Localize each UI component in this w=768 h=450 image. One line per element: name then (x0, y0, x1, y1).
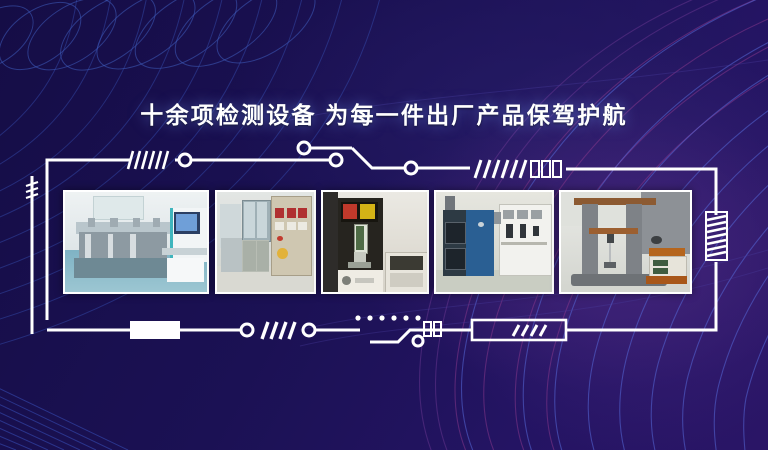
banner-stage: 十余项检测设备 为每一件出厂产品保驾护航 (0, 0, 768, 450)
gallery-item-control-cabinet-equipment[interactable] (215, 190, 316, 294)
photo-content (323, 192, 427, 292)
gallery-item-industrial-furnace-oven[interactable] (434, 190, 554, 294)
equipment-gallery (0, 0, 768, 450)
photo-content (561, 192, 690, 292)
gallery-item-universal-tensile-testing-machine[interactable] (559, 190, 692, 294)
photo-content (217, 192, 314, 292)
photo-content (65, 192, 207, 292)
gallery-item-automated-production-line[interactable] (63, 190, 209, 294)
photo-content (436, 192, 552, 292)
gallery-item-benchtop-hardness-tester[interactable] (321, 190, 429, 294)
